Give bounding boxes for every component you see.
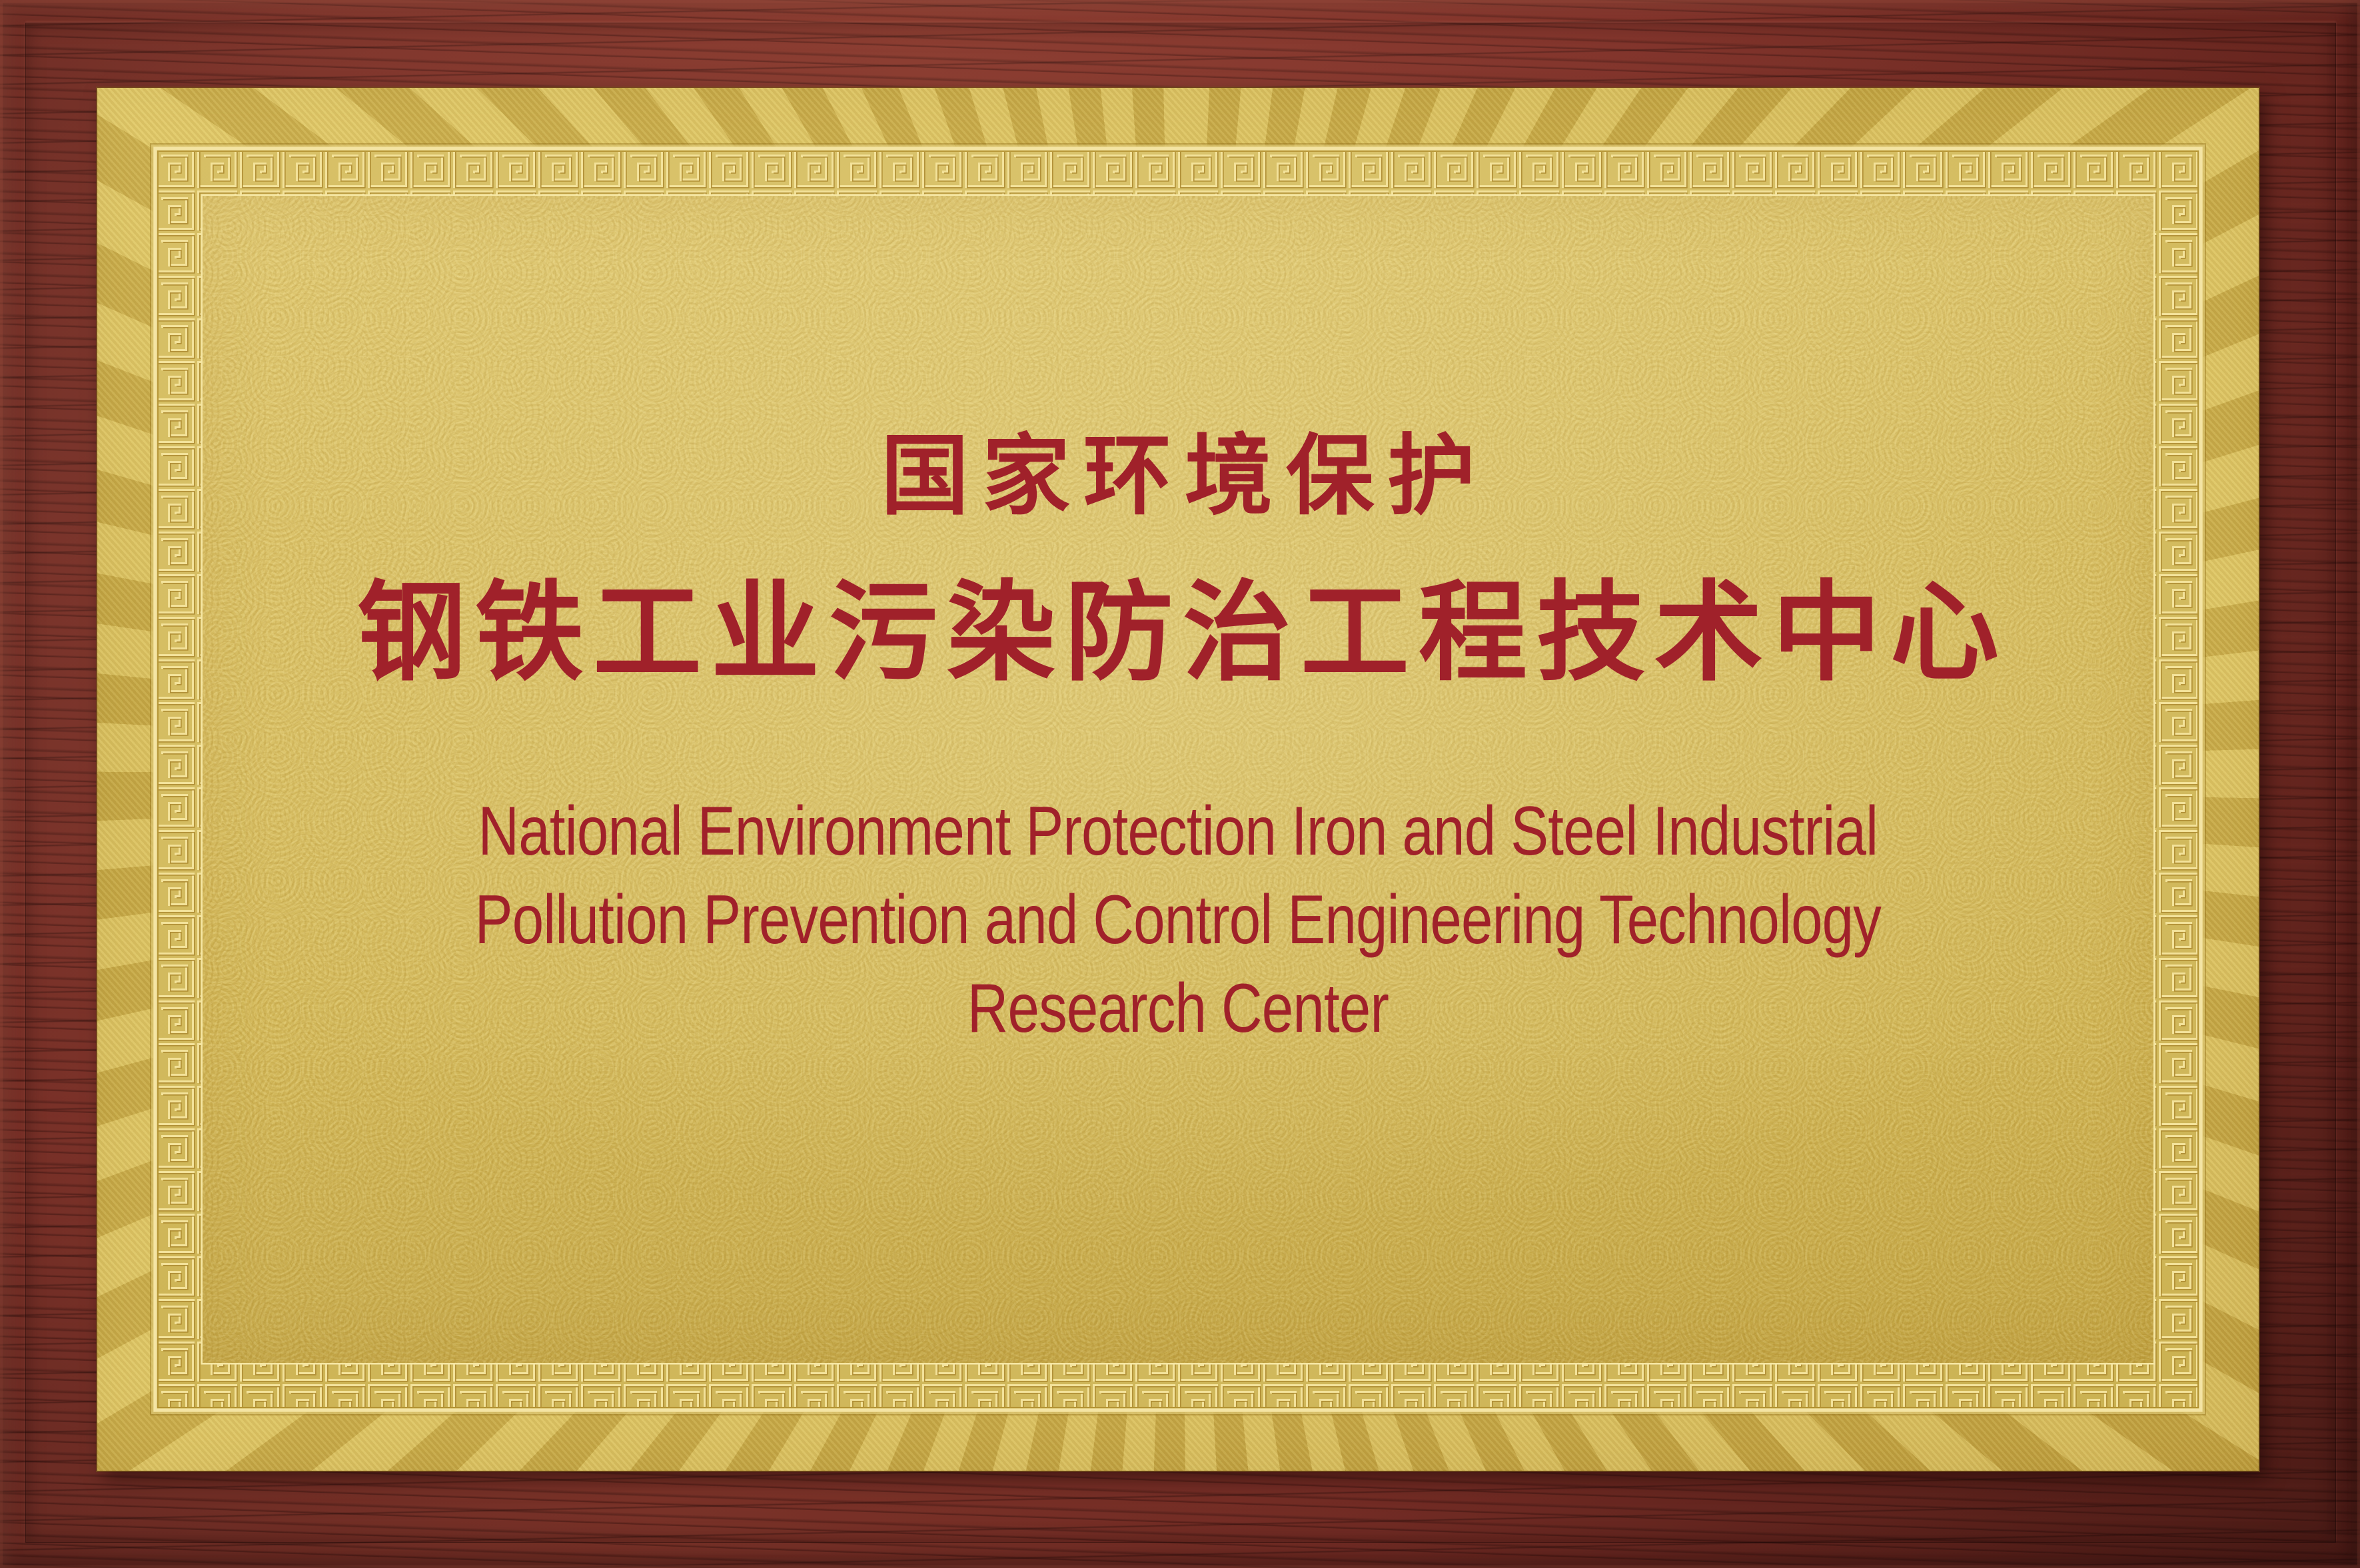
english-title: National Environment Protection Iron and… [475,787,1881,1053]
gold-plate: 国家环境保护 钢铁工业污染防治工程技术中心 National Environme… [97,88,2259,1471]
inscription: 国家环境保护 钢铁工业污染防治工程技术中心 National Environme… [203,196,2153,1363]
engraved-field: 国家环境保护 钢铁工业污染防治工程技术中心 National Environme… [203,196,2153,1363]
english-title-line-2: Pollution Prevention and Control Enginee… [475,876,1881,965]
plate-inner-panel: 国家环境保护 钢铁工业污染防治工程技术中心 National Environme… [153,147,2203,1412]
english-title-line-1: National Environment Protection Iron and… [475,787,1881,876]
award-plaque: 国家环境保护 钢铁工业污染防治工程技术中心 National Environme… [0,0,2360,1568]
english-title-line-3: Research Center [475,965,1881,1053]
chinese-title-line-2: 钢铁工业污染防治工程技术中心 [348,579,2008,687]
chinese-title-line-1: 国家环境保护 [868,432,1488,520]
